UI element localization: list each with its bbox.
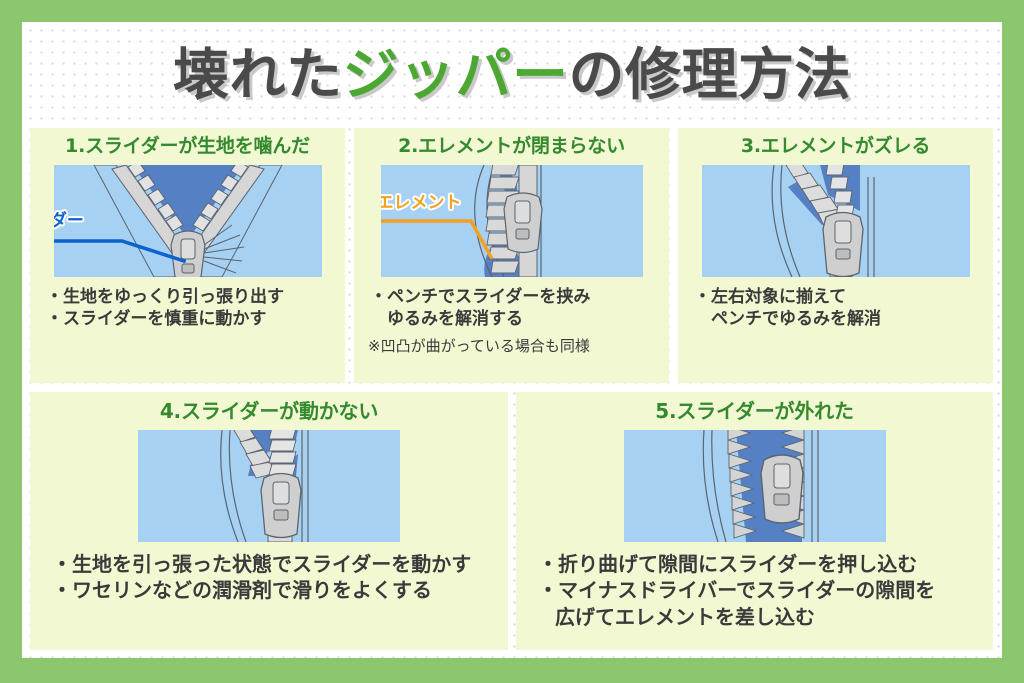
zipper-illustration-2: エレメント (381, 165, 643, 277)
list-item: ・スライダーを慎重に動かす (46, 308, 345, 330)
list-item-line1: ・ペンチでスライダーを挟み (370, 287, 590, 307)
list-item-line1: ・マイナスドライバーでスライダーの隙間を (538, 578, 935, 602)
panel-5-illustration-wrap (516, 430, 993, 542)
panel-5: 5.スライダーが外れた (516, 392, 993, 650)
list-item-line2: ペンチでゆるみを解消 (694, 308, 993, 330)
poster-title-area: 壊れたジッパーの修理方法 (22, 28, 1002, 124)
list-item: ・マイナスドライバーでスライダーの隙間を 広げてエレメントを差し込む (538, 577, 993, 630)
panel-4-illustration-wrap (30, 430, 508, 542)
zipper-svg-5 (624, 430, 886, 542)
list-item: ・生地を引っ張った状態でスライダーを動かす (52, 551, 508, 577)
panel-2-illustration-wrap: エレメント (354, 165, 669, 277)
panel-4-bullets: ・生地を引っ張った状態でスライダーを動かす ・ワセリンなどの潤滑剤で滑りをよくす… (30, 551, 508, 604)
panel-3-illustration-wrap (678, 165, 993, 277)
panel-2-bullets: ・ペンチでスライダーを挟み ゆるみを解消する (354, 286, 669, 331)
zipper-illustration-3 (702, 165, 970, 277)
panel-1: 1.スライダーが生地を噛んだ (30, 128, 345, 383)
title-part-highlight: ジッパー (343, 43, 569, 108)
zipper-illustration-5 (624, 430, 886, 542)
list-item: ・ペンチでスライダーを挟み ゆるみを解消する (370, 286, 669, 331)
list-item: ・生地をゆっくり引っ張り出す (46, 286, 345, 308)
panel-1-bullets: ・生地をゆっくり引っ張り出す ・スライダーを慎重に動かす (30, 286, 345, 331)
panel-2-heading: 2.エレメントが閉まらない (354, 128, 669, 158)
title-part-3: の修理方法 (569, 43, 852, 108)
panel-4: 4.スライダーが動かない (30, 392, 508, 650)
slider-callout-label: スライダー (54, 213, 84, 230)
infographic-poster: 壊れたジッパーの修理方法 1.スライダーが生地を噛んだ (0, 0, 1024, 683)
element-callout-line (381, 213, 515, 265)
poster-canvas: 壊れたジッパーの修理方法 1.スライダーが生地を噛んだ (22, 22, 1002, 658)
list-item: ・折り曲げて隙間にスライダーを押し込む (538, 551, 993, 577)
zipper-svg-4 (138, 430, 400, 542)
panel-1-illustration-wrap: スライダー (30, 165, 345, 277)
zipper-illustration-4 (138, 430, 400, 542)
panel-3: 3.エレメントがズレる (678, 128, 993, 383)
list-item: ・ワセリンなどの潤滑剤で滑りをよくする (52, 577, 508, 603)
panel-1-heading: 1.スライダーが生地を噛んだ (30, 128, 345, 158)
slider-callout-line (54, 231, 196, 267)
list-item-line2: ゆるみを解消する (370, 308, 669, 330)
panel-3-heading: 3.エレメントがズレる (678, 128, 993, 158)
title-part-1: 壊れた (173, 43, 343, 108)
zipper-svg-3 (702, 165, 970, 277)
zipper-illustration-1: スライダー (54, 165, 322, 277)
page-title: 壊れたジッパーの修理方法 (173, 48, 851, 104)
list-item: ・左右対象に揃えて ペンチでゆるみを解消 (694, 286, 993, 331)
list-item-line1: ・左右対象に揃えて (694, 287, 846, 307)
panel-5-heading: 5.スライダーが外れた (516, 392, 993, 423)
panel-3-bullets: ・左右対象に揃えて ペンチでゆるみを解消 (678, 286, 993, 331)
list-item-line2: 広げてエレメントを差し込む (538, 604, 993, 630)
panel-2-note: ※凹凸が曲がっている場合も同様 (354, 335, 669, 356)
panel-4-heading: 4.スライダーが動かない (30, 392, 508, 423)
panel-2: 2.エレメントが閉まらない (354, 128, 669, 383)
panel-5-bullets: ・折り曲げて隙間にスライダーを押し込む ・マイナスドライバーでスライダーの隙間を… (516, 551, 993, 630)
element-callout-label: エレメント (381, 195, 462, 212)
